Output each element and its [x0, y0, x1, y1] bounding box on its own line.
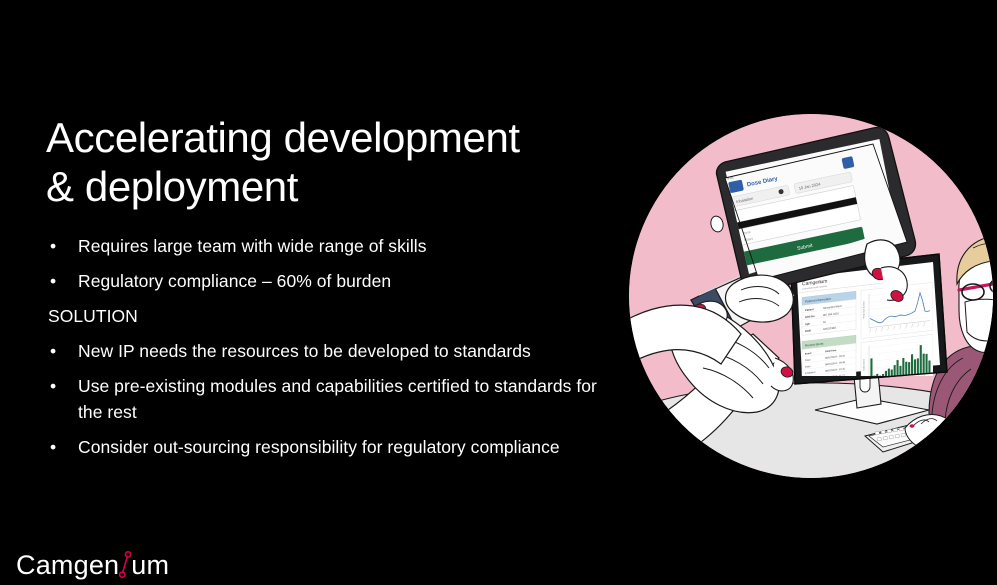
- presentation-slide: Accelerating development & deployment • …: [0, 0, 997, 585]
- list-item-label: Regulatory compliance – 60% of burden: [78, 271, 391, 291]
- bullet-icon: •: [50, 434, 56, 460]
- illustration-svg: Camgen i um connected health systems Das…: [629, 114, 993, 478]
- bullet-icon: •: [50, 233, 56, 259]
- list-item-label: Use pre-existing modules and capabilitie…: [78, 376, 597, 422]
- logo-text-before: Camgen: [16, 552, 119, 579]
- bullet-list-problem: • Requires large team with wide range of…: [46, 233, 616, 294]
- list-item: • Requires large team with wide range of…: [46, 233, 616, 259]
- list-item-label: New IP needs the resources to be develop…: [78, 341, 531, 361]
- list-item-label: Requires large team with wide range of s…: [78, 236, 427, 256]
- svg-text:DOB: DOB: [805, 328, 811, 333]
- svg-text:Peak flow (L/min): Peak flow (L/min): [864, 301, 866, 318]
- svg-text:i: i: [819, 279, 820, 285]
- slide-text-column: Accelerating development & deployment • …: [46, 113, 616, 469]
- bullet-list-solution: • New IP needs the resources to be devel…: [46, 338, 616, 460]
- list-item: • Consider out-sourcing responsibility f…: [46, 434, 616, 460]
- section-label-solution: SOLUTION: [46, 303, 616, 329]
- list-item: • New IP needs the resources to be devel…: [46, 338, 616, 364]
- svg-text:Daily doses: Daily doses: [864, 358, 866, 370]
- bullet-icon: •: [50, 268, 56, 294]
- bullet-icon: •: [50, 338, 56, 364]
- logo-text-after: um: [131, 552, 169, 579]
- connected-health-illustration: Camgen i um connected health systems Das…: [629, 114, 993, 478]
- list-item-label: Consider out-sourcing responsibility for…: [78, 437, 560, 457]
- list-item: • Regulatory compliance – 60% of burden: [46, 268, 616, 294]
- svg-text:Age: Age: [805, 321, 810, 326]
- camgenium-logo: Camgen um: [16, 548, 169, 582]
- list-item: • Use pre-existing modules and capabilit…: [46, 373, 616, 425]
- slide-title: Accelerating development & deployment: [46, 113, 616, 211]
- camgenium-i-mark-icon: [118, 550, 132, 580]
- bullet-icon: •: [50, 373, 56, 399]
